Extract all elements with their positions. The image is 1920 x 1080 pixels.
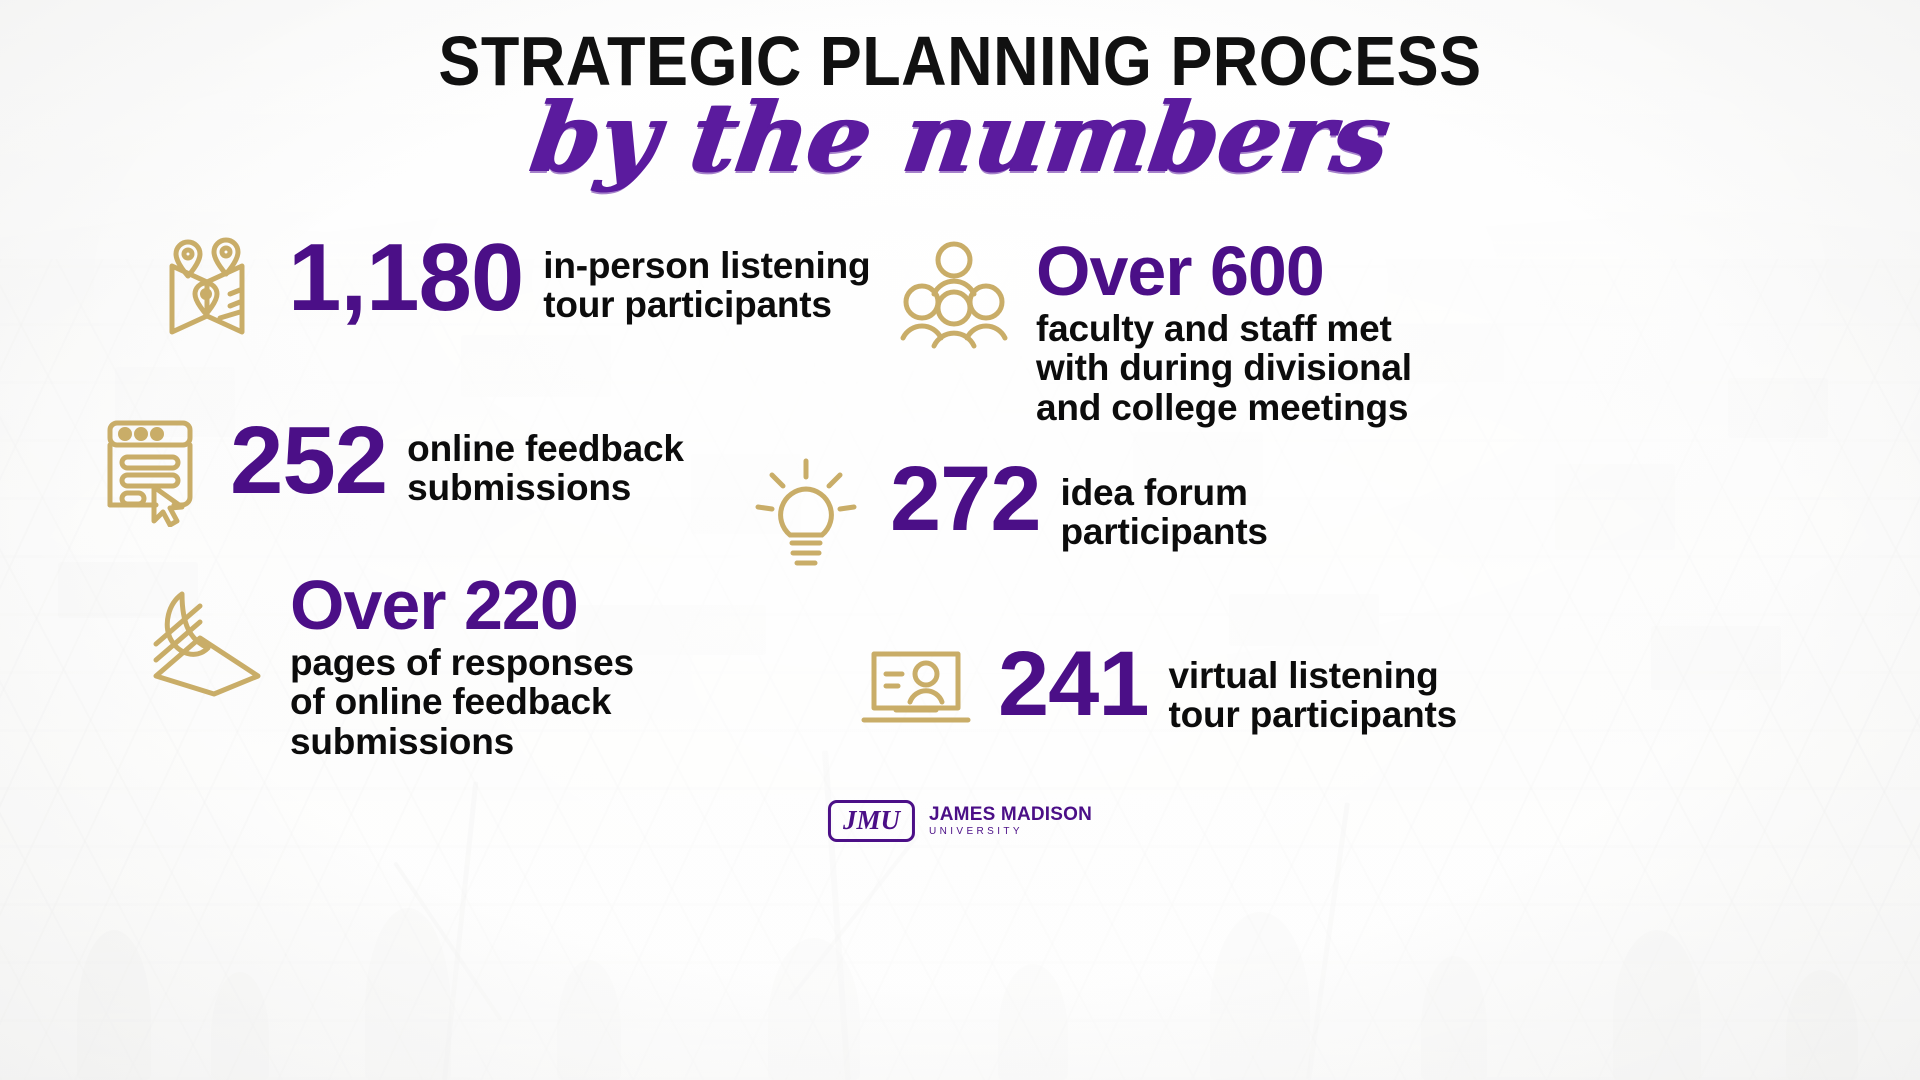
stat-description: online feedback submissions	[407, 429, 684, 507]
desc-line: in-person listening	[543, 245, 870, 286]
desc-line: online feedback	[407, 428, 684, 469]
stat-idea-forum: 272 idea forum participants	[750, 455, 1268, 580]
desc-line: of online feedback	[290, 681, 611, 722]
map-icon	[152, 232, 262, 345]
stat-number: 272	[890, 455, 1041, 543]
browser-feedback-icon	[100, 415, 204, 532]
stat-description: pages of responses of online feedback su…	[290, 643, 634, 761]
jmu-wordmark: JAMES MADISON UNIVERSITY	[929, 805, 1092, 837]
stat-pages-of-responses: Over 220 pages of responses of online fe…	[148, 572, 634, 761]
stat-virtual-listening: 241 virtual listening tour participants	[858, 640, 1457, 741]
header: STRATEGIC PLANNING PROCESS by the number…	[0, 26, 1920, 186]
laptop-person-icon	[858, 640, 974, 741]
desc-line: idea forum	[1061, 472, 1248, 513]
desc-line: and college meetings	[1036, 387, 1408, 428]
jmu-monogram: JMU	[828, 800, 915, 842]
stat-number: Over 220	[290, 572, 634, 639]
stat-description: faculty and staff met with during divisi…	[1036, 309, 1412, 427]
stat-number: 252	[230, 415, 387, 507]
stat-description: idea forum participants	[1061, 473, 1268, 551]
desc-line: participants	[1061, 511, 1268, 552]
stat-in-person-listening: 1,180 in-person listening tour participa…	[152, 232, 870, 345]
people-group-icon	[898, 238, 1010, 359]
desc-line: tour participants	[543, 284, 832, 325]
stat-description: in-person listening tour participants	[543, 246, 870, 324]
jmu-university-name: JAMES MADISON	[929, 805, 1092, 825]
stat-faculty-staff-met: Over 600 faculty and staff met with duri…	[898, 238, 1412, 427]
desc-line: pages of responses	[290, 642, 634, 683]
stat-number: 1,180	[288, 232, 523, 324]
desc-line: with during divisional	[1036, 347, 1412, 388]
desc-line: submissions	[407, 467, 631, 508]
stat-number: Over 600	[1036, 238, 1412, 305]
stat-online-feedback: 252 online feedback submissions	[100, 415, 684, 532]
desc-line: faculty and staff met	[1036, 308, 1392, 349]
desc-line: submissions	[290, 721, 514, 762]
stacked-pages-icon	[148, 572, 266, 703]
stat-description: virtual listening tour participants	[1169, 656, 1458, 734]
stat-number: 241	[998, 640, 1149, 728]
jmu-logo: JMU JAMES MADISON UNIVERSITY	[828, 800, 1092, 842]
lightbulb-icon	[750, 455, 862, 580]
desc-line: tour participants	[1169, 694, 1458, 735]
jmu-university-label: UNIVERSITY	[929, 827, 1092, 838]
desc-line: virtual listening	[1169, 655, 1439, 696]
page-subtitle: by the numbers	[0, 90, 1920, 186]
